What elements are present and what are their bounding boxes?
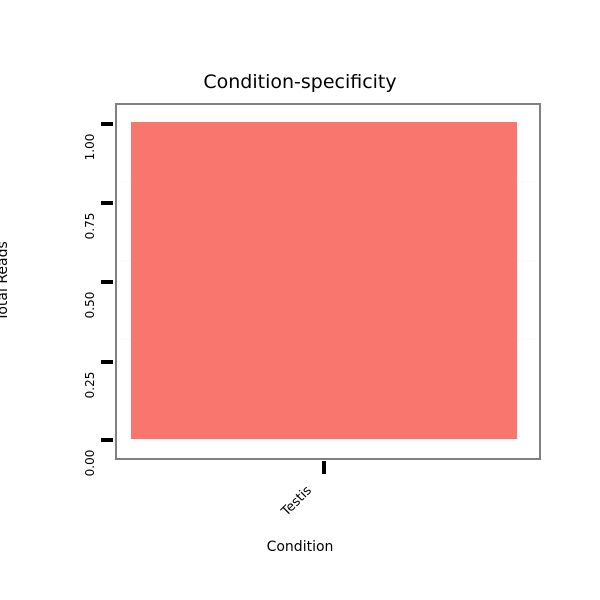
chart-title: Condition-specificity	[0, 70, 600, 94]
y-tick-mark-075	[101, 201, 113, 205]
x-tick-mark-testis	[322, 461, 326, 474]
y-tick-mark-0	[101, 438, 113, 442]
y-tick-label-1: 1.00	[84, 124, 96, 170]
y-axis-title: Total Reads	[0, 241, 10, 321]
bar-testis[interactable]	[131, 122, 517, 439]
y-tick-label-050: 0.50	[84, 282, 96, 328]
y-tick-label-075: 0.75	[84, 203, 96, 249]
y-tick-label-0: 0.00	[84, 440, 96, 486]
y-tick-label-025: 0.25	[84, 362, 96, 408]
panel-inner	[117, 105, 539, 458]
y-tick-mark-025	[101, 360, 113, 364]
y-tick-mark-050	[101, 280, 113, 284]
x-axis-title: Condition	[0, 539, 600, 555]
chart-canvas: Condition-specificity Total Reads 1.00 0…	[0, 0, 600, 600]
plot-panel	[115, 103, 541, 460]
y-tick-mark-1	[101, 122, 113, 126]
x-tick-label-testis: Testis	[280, 484, 315, 519]
